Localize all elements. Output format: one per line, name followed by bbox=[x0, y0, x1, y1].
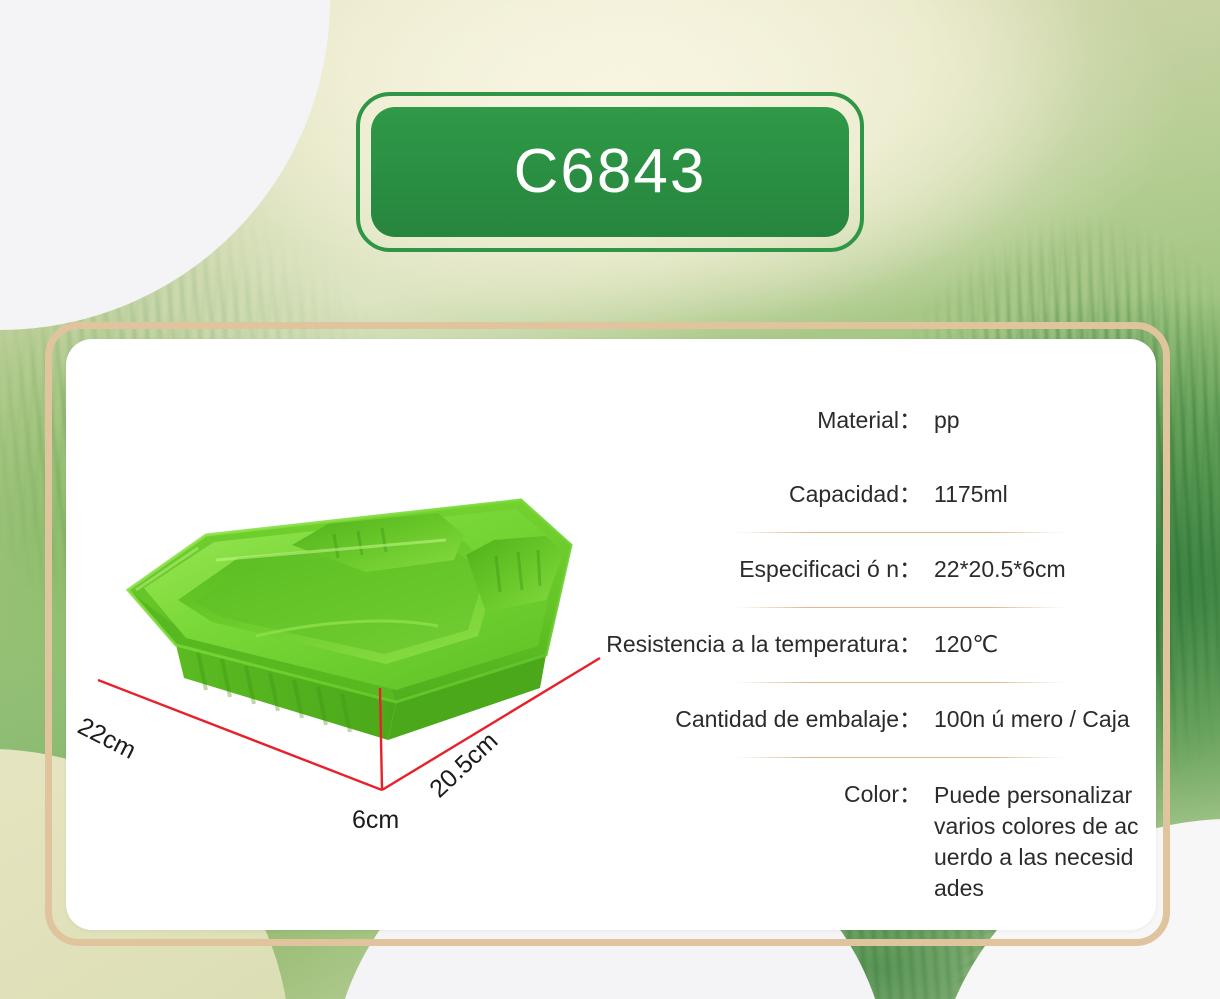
spec-row-resistencia: Resistencia a la temperatura： 120℃ bbox=[600, 608, 1160, 682]
spec-label-especificacion: Especificaci ó n： bbox=[600, 555, 930, 585]
spec-label-cantidad: Cantidad de embalaje： bbox=[600, 705, 930, 735]
spec-label-capacidad: Capacidad： bbox=[600, 480, 930, 510]
spec-row-capacidad: Capacidad： 1175ml bbox=[600, 458, 1160, 532]
product-infographic-poster: C6843 bbox=[0, 0, 1220, 999]
product-image-container bbox=[66, 440, 626, 860]
spec-row-color: Color： Puede personalizar varios colores… bbox=[600, 758, 1160, 904]
product-code-badge: C6843 bbox=[356, 92, 864, 252]
dimension-lines bbox=[66, 440, 626, 860]
dimension-line-depth bbox=[382, 658, 600, 790]
spec-row-material: Material： pp bbox=[600, 384, 1160, 458]
spec-value-resistencia: 120℃ bbox=[930, 629, 1160, 660]
spec-value-especificacion: 22*20.5*6cm bbox=[930, 554, 1160, 585]
spec-label-resistencia: Resistencia a la temperatura： bbox=[600, 630, 930, 660]
spec-value-color-line-4: ades bbox=[934, 873, 1160, 904]
specification-table: Material： pp Capacidad： 1175ml Especific… bbox=[600, 384, 1160, 904]
dimension-line-height bbox=[380, 688, 382, 790]
spec-row-especificacion: Especificaci ó n： 22*20.5*6cm bbox=[600, 533, 1160, 607]
dimension-line-width bbox=[98, 680, 382, 790]
spec-value-material: pp bbox=[930, 405, 1160, 436]
spec-value-color: Puede personalizar varios colores de ac … bbox=[930, 780, 1160, 904]
spec-label-material: Material： bbox=[600, 406, 930, 436]
product-code-text: C6843 bbox=[514, 141, 707, 203]
spec-row-cantidad: Cantidad de embalaje： 100n ú mero / Caja bbox=[600, 683, 1160, 757]
spec-value-capacidad: 1175ml bbox=[930, 479, 1160, 510]
spec-value-cantidad: 100n ú mero / Caja bbox=[930, 704, 1160, 735]
spec-value-color-line-3: uerdo a las necesid bbox=[934, 842, 1160, 873]
spec-value-color-line-1: Puede personalizar bbox=[934, 780, 1160, 811]
spec-label-color: Color： bbox=[600, 780, 930, 810]
spec-value-color-line-2: varios colores de ac bbox=[934, 811, 1160, 842]
product-code-badge-fill: C6843 bbox=[371, 107, 849, 237]
dimension-label-height: 6cm bbox=[352, 806, 399, 835]
